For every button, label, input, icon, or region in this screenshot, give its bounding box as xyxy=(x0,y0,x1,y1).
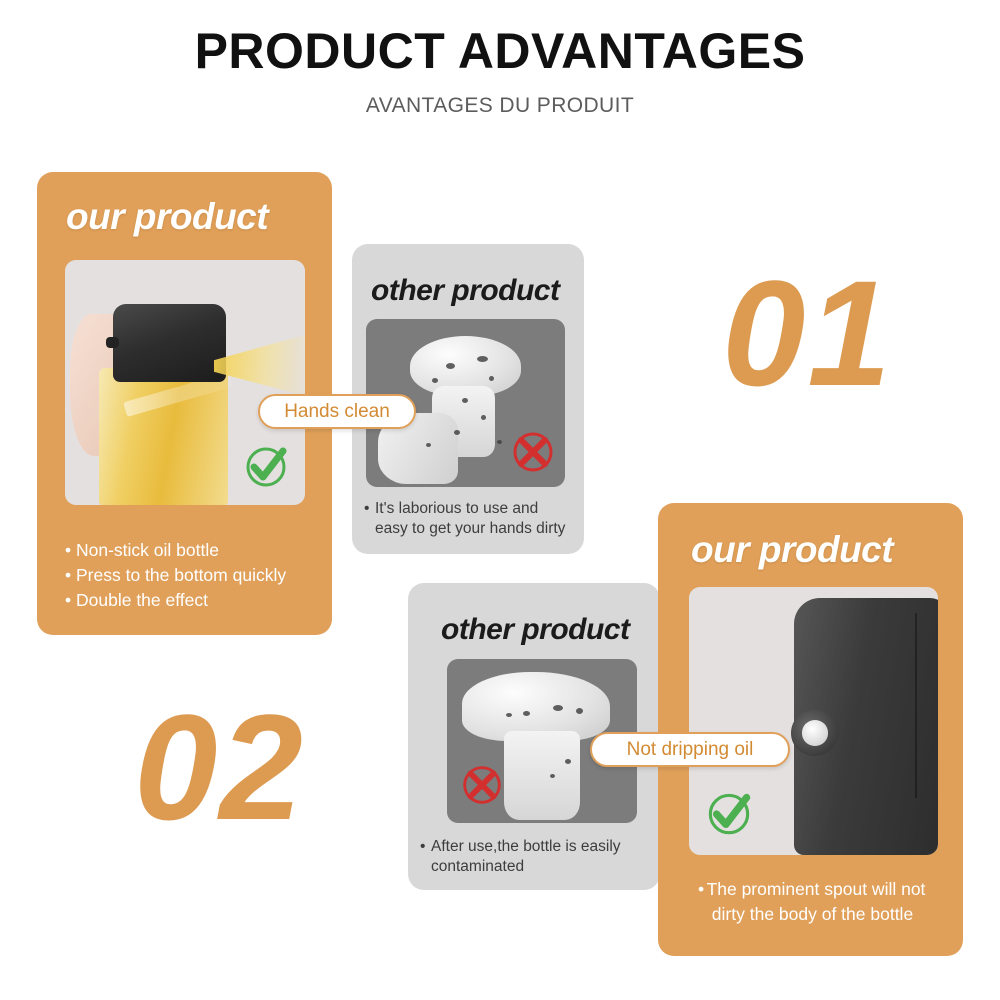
bullet-item: The prominent spout will not xyxy=(707,879,926,899)
our-product-photo-2 xyxy=(689,587,938,855)
cross-mark-icon xyxy=(457,759,507,809)
our-product-card-2: our product •The prominent spout will no… xyxy=(658,503,963,956)
cross-mark-icon xyxy=(507,425,559,477)
our-product-bullets-2: •The prominent spout will not dirty the … xyxy=(658,877,963,927)
check-mark-icon xyxy=(701,785,757,841)
our-product-bullets-1: •Non-stick oil bottle •Press to the bott… xyxy=(65,538,286,613)
caption-line: After use,the bottle is easily xyxy=(431,838,621,855)
not-dripping-oil-badge: Not dripping oil xyxy=(590,732,790,767)
our-product-heading-2: our product xyxy=(691,529,893,571)
caption-line: easy to get your hands dirty xyxy=(375,520,565,537)
our-product-heading-1: our product xyxy=(66,196,268,238)
bullet-item: dirty the body of the bottle xyxy=(712,904,913,924)
page-title: PRODUCT ADVANTAGES xyxy=(0,22,1000,80)
section-number-02: 02 xyxy=(134,692,305,842)
other-product-caption-1: •It's laborious to use and easy to get y… xyxy=(364,499,565,539)
caption-line: contaminated xyxy=(431,858,524,875)
caption-line: It's laborious to use and xyxy=(375,500,538,517)
page-subtitle: AVANTAGES DU PRODUIT xyxy=(0,94,1000,118)
bullet-item: Double the effect xyxy=(76,590,208,610)
our-product-photo-1 xyxy=(65,260,305,505)
other-product-heading-1: other product xyxy=(371,274,560,308)
section-number-01: 01 xyxy=(722,258,893,408)
other-product-heading-2: other product xyxy=(441,613,630,647)
other-product-caption-2: •After use,the bottle is easily contamin… xyxy=(420,837,621,877)
bullet-item: Non-stick oil bottle xyxy=(76,540,219,560)
bullet-item: Press to the bottom quickly xyxy=(76,565,286,585)
hands-clean-badge: Hands clean xyxy=(258,394,416,429)
check-mark-icon xyxy=(239,439,293,493)
